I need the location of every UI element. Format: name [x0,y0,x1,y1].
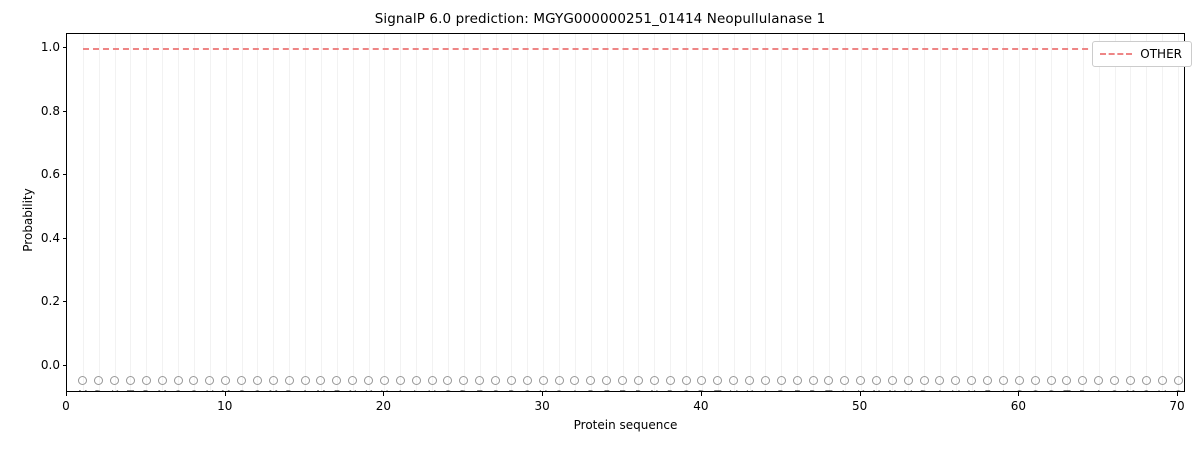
x-tick-label: 40 [693,399,708,413]
residue-letter: V [1158,390,1166,392]
x-tick-mark [66,392,67,396]
residue-letter: A [301,390,309,392]
residue-letter: G [1031,390,1040,392]
signalp-prediction-figure: SignalP 6.0 prediction: MGYG000000251_01… [0,0,1200,450]
residue-letter: P [667,390,674,392]
x-tick-label: 10 [217,399,232,413]
residue-letter: S [238,390,245,392]
residue-letter: M [316,390,326,392]
residue-letter: R [285,390,293,392]
residue-letter: M [221,390,231,392]
y-axis-label: Probability [21,188,35,251]
residue-letter: M [157,390,167,392]
residue-letter: N [348,390,357,392]
residue-letter: R [777,390,785,392]
legend-label-other: OTHER [1140,47,1182,61]
residue-letter: G [682,390,691,392]
residue-letter: T [825,390,832,392]
residue-letter: T [714,390,721,392]
x-tick-label: 50 [852,399,867,413]
x-tick-label: 70 [1169,399,1184,413]
residue-letter: A [936,390,944,392]
x-tick-mark [701,392,702,396]
x-axis-label: Protein sequence [66,418,1185,432]
residue-letter: V [730,390,738,392]
residue-letter: Q [189,390,198,392]
residue-letter: K [111,390,119,392]
residue-letter: M [1125,390,1135,392]
y-tick-label: 0.8 [41,104,60,118]
residue-letter: D [459,390,468,392]
residue-letter: P [587,390,594,392]
residue-letter: L [413,390,419,392]
x-tick-label: 30 [535,399,550,413]
y-tick-label: 1.0 [41,40,60,54]
x-tick-mark [1177,392,1178,396]
residue-letter: I [1002,390,1005,392]
residue-letter: M [78,390,88,392]
y-tick-label: 0.4 [41,231,60,245]
residue-letter: M [268,390,278,392]
x-tick-label: 60 [1011,399,1026,413]
residue-letter: V [904,390,912,392]
residue-letter: P [635,390,642,392]
residue-letter: Q [555,390,564,392]
residue-letter: V [952,390,960,392]
chart-title: SignalP 6.0 prediction: MGYG000000251_01… [0,11,1200,27]
residue-letter: E [619,390,626,392]
residue-letter: D [920,390,929,392]
residue-letter-layer: MDKTRMQQYMSQMRAMFNKHALYSDESPQYQIPFEPNPGD… [67,34,1184,391]
residue-letter: Y [206,390,213,392]
residue-letter: K [365,390,373,392]
residue-letter: F [794,390,801,392]
residue-letter: A [396,390,404,392]
residue-letter: S [492,390,499,392]
residue-letter: T [1063,390,1070,392]
residue-letter: P [508,390,515,392]
residue-letter: H [380,390,389,392]
residue-letter: S [1047,390,1054,392]
x-tick-label: 0 [62,399,70,413]
residue-letter: A [1095,390,1103,392]
residue-letter: I [573,390,576,392]
legend-swatch-other [1100,53,1132,55]
residue-letter: F [984,390,991,392]
legend[interactable]: OTHER [1092,41,1192,67]
residue-letter: S [444,390,451,392]
residue-letter: R [142,390,150,392]
residue-letter: D [94,390,103,392]
residue-letter: S [1016,390,1023,392]
residue-letter: I [764,390,767,392]
residue-letter: Q [253,390,262,392]
residue-letter: K [857,390,865,392]
x-tick-mark [1018,392,1019,396]
residue-letter: Y [540,390,547,392]
residue-letter: N [650,390,659,392]
x-tick-mark [860,392,861,396]
residue-letter: E [476,390,483,392]
residue-letter: Q [523,390,532,392]
residue-letter: Q [174,390,183,392]
residue-letter: D [697,390,706,392]
x-tick-mark [542,392,543,396]
residue-letter: K [746,390,754,392]
x-tick-mark [383,392,384,396]
residue-letter: Q [1110,390,1119,392]
residue-letter: T [127,390,134,392]
y-tick-label: 0.0 [41,358,60,372]
y-tick-label: 0.6 [41,167,60,181]
residue-letter: R [1079,390,1087,392]
residue-letter: R [809,390,817,392]
residue-letter: Q [1142,390,1151,392]
residue-letter: L [842,390,848,392]
residue-letter: N [888,390,897,392]
x-tick-label: 20 [376,399,391,413]
residue-letter: Y [968,390,975,392]
residue-letter: N [872,390,881,392]
plot-area: MDKTRMQQYMSQMRAMFNKHALYSDESPQYQIPFEPNPGD… [66,33,1185,392]
y-tick-label: 0.2 [41,294,60,308]
residue-letter: G [1174,390,1183,392]
x-tick-mark [225,392,226,396]
residue-letter: Y [429,390,436,392]
residue-letter: F [603,390,610,392]
residue-letter: F [334,390,341,392]
